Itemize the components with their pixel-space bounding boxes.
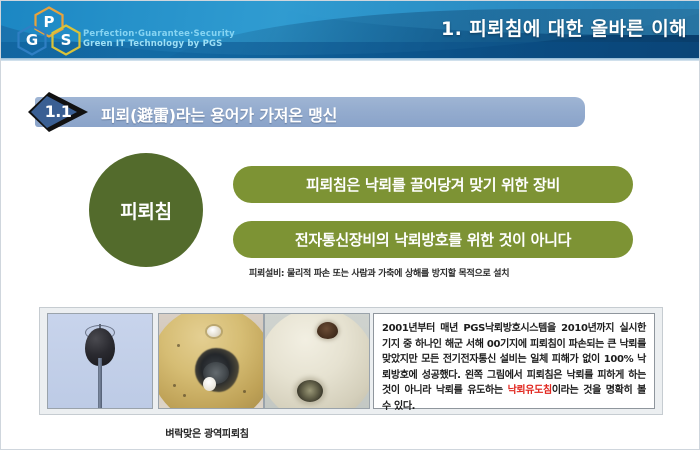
explanation-textbox: 2001년부터 매년 PGS낙뢰방호시스템을 2010년까지 실시한 기지 중 …: [373, 313, 655, 409]
explanation-highlight: 낙뢰유도침: [508, 385, 552, 396]
photo-caption: 벼락맞은 광역피뢰침: [47, 425, 367, 440]
speck-shape: [173, 384, 176, 387]
photo-lightning-rod-on-mast: [47, 313, 153, 409]
logo-tagline: Perfection·Guarantee·Security Green IT T…: [83, 30, 235, 50]
statement-bar-1-label: 피뢰침은 낙뢰를 끌어당겨 맞기 위한 장비: [306, 174, 560, 195]
header-divider: [1, 58, 700, 61]
pgs-logo: P G S Perfecti: [9, 5, 189, 55]
rod-mast-shape: [98, 358, 102, 409]
statement-bar-2: 전자통신장비의 낙뢰방호를 위한 것이 아니다: [233, 221, 633, 258]
logo-hexagon-s: S: [51, 24, 81, 56]
photo-damaged-sphere-burn: [158, 313, 264, 409]
speck-shape: [183, 394, 186, 397]
statement-bar-2-label: 전자통신장비의 낙뢰방호를 위한 것이 아니다: [295, 229, 571, 250]
concept-circle: 피뢰침: [89, 153, 203, 267]
statement-bar-1: 피뢰침은 낙뢰를 끌어당겨 맞기 위한 장비: [233, 166, 633, 203]
slide-root: P G S Perfecti: [0, 0, 700, 450]
section-title: 피뢰(避雷)라는 용어가 가져온 맹신: [101, 102, 337, 126]
concept-circle-label: 피뢰침: [120, 197, 172, 224]
sphere-top-hole-shape: [207, 326, 221, 337]
logo-hexagon-g: G: [17, 24, 47, 56]
burn-pit-shape: [203, 377, 216, 391]
explanation-paragraph: 2001년부터 매년 PGS낙뢰방호시스템을 2010년까지 실시한 기지 중 …: [382, 321, 646, 414]
page-title: 1. 피뢰침에 대한 올바른 이해: [441, 14, 687, 41]
speck-shape: [177, 344, 180, 347]
logo-letter-g: G: [17, 24, 47, 56]
logo-letter-s: S: [51, 24, 81, 56]
photo-damaged-sphere-holes: [264, 313, 370, 409]
section-number: 1.1: [37, 102, 79, 121]
facility-note: 피뢰설비: 물리적 파손 또는 사람과 가축에 상해를 방지할 목적으로 설치: [249, 266, 509, 279]
slide-header: P G S Perfecti: [1, 1, 700, 58]
lower-burn-hole-shape: [297, 380, 323, 402]
logo-tagline-line2: Green IT Technology by PGS: [83, 40, 235, 50]
upper-burn-hole-shape: [317, 322, 338, 339]
speck-shape: [243, 390, 246, 393]
